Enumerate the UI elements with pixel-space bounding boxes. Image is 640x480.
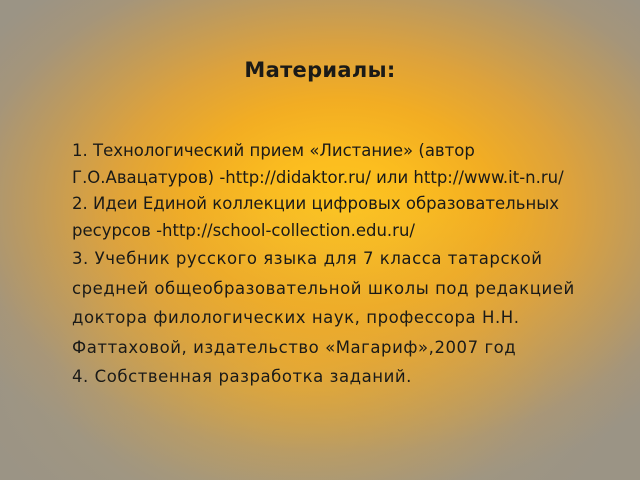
list-item: 3. Учебник русского языка для 7 класса т…: [72, 244, 602, 362]
materials-list: 1. Технологический прием «Листание» (авт…: [72, 138, 602, 392]
list-item: 4. Собственная разработка заданий.: [72, 362, 602, 392]
list-item: 1. Технологический прием «Листание» (авт…: [72, 138, 602, 191]
list-item: 2. Идеи Единой коллекции цифровых образо…: [72, 191, 602, 244]
slide-content: Материалы: 1. Технологический прием «Лис…: [0, 0, 640, 480]
presentation-slide: Материалы: 1. Технологический прием «Лис…: [0, 0, 640, 480]
slide-title: Материалы:: [0, 58, 640, 82]
